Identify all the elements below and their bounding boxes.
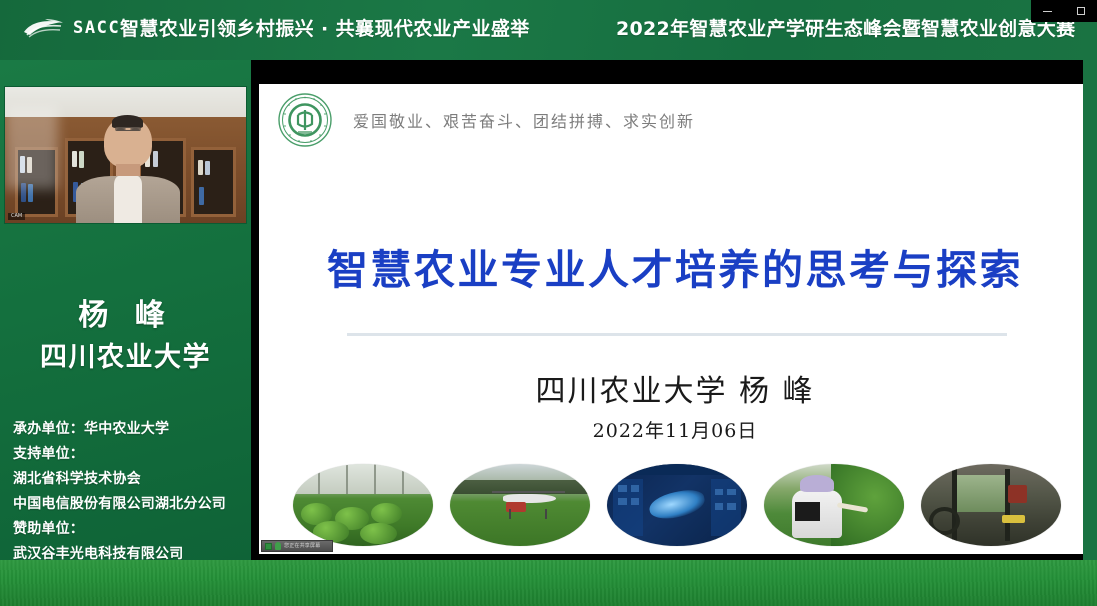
- credit-line: 承办单位：华中农业大学: [13, 417, 251, 442]
- maximize-icon: [1077, 7, 1085, 15]
- credit-line: 中国电信股份有限公司湖北分公司: [13, 492, 251, 517]
- sacc-wordmark: SACC: [73, 17, 120, 39]
- credit-line: 支持单位：: [13, 442, 251, 467]
- webcam-badge: CAM: [8, 213, 25, 220]
- speaker-webcam-tile[interactable]: CAM: [4, 86, 247, 224]
- share-status-label: 您正在共享屏幕: [284, 542, 320, 550]
- speaker-head: [104, 117, 153, 168]
- speaker-sidebar: CAM 杨 峰 四川农业大学 承办单位：华中农业大学 支持单位： 湖北省科学技术…: [0, 60, 251, 560]
- webcam-video-feed: [5, 87, 246, 223]
- eyeglasses-icon: [115, 127, 140, 132]
- maximize-button[interactable]: [1068, 0, 1094, 22]
- window-light-glare: [5, 107, 58, 189]
- slide-subtitle: 四川农业大学 杨 峰: [259, 372, 1091, 412]
- credit-line: 赞助单位：: [13, 517, 251, 542]
- credit-line: 湖北省科学技术协会: [13, 467, 251, 492]
- grass-footer-strip: [0, 560, 1097, 606]
- leaf-wave-icon: [22, 17, 64, 39]
- presentation-slide: 爱国敬业、艰苦奋斗、团结拼搏、求实创新 智慧农业专业人才培养的思考与探索 四川农…: [259, 84, 1091, 554]
- stop-share-icon[interactable]: [265, 543, 272, 550]
- shelf-panel: [191, 147, 237, 217]
- slide-header: 爱国敬业、艰苦奋斗、团结拼搏、求实创新: [277, 92, 695, 148]
- header-event-title: 2022年智慧农业产学研生态峰会暨智慧农业创意大赛: [616, 17, 1075, 41]
- sacc-brand-logo: SACC: [22, 17, 120, 39]
- speaker-shirt: [114, 176, 142, 223]
- slide-title: 智慧农业专业人才培养的思考与探索: [259, 244, 1091, 296]
- minimize-icon: [1043, 11, 1052, 12]
- credit-line: 武汉谷丰光电科技有限公司: [13, 542, 251, 560]
- minimize-button[interactable]: [1035, 0, 1061, 22]
- speaker-organization: 四川农业大学: [0, 341, 251, 375]
- photo-greenhouse-lettuce: [293, 464, 433, 546]
- shared-screen-stage[interactable]: 爱国敬业、艰苦奋斗、团结拼搏、求实创新 智慧农业专业人才培养的思考与探索 四川农…: [251, 60, 1097, 560]
- title-divider: [347, 333, 1007, 336]
- slide-motto: 爱国敬业、艰苦奋斗、团结拼搏、求实创新: [353, 108, 695, 132]
- screen-share-indicator[interactable]: 您正在共享屏幕: [261, 540, 333, 552]
- speaker-name: 杨 峰: [0, 298, 251, 334]
- right-green-edge: [1083, 60, 1097, 560]
- photo-agricultural-drone: [450, 464, 590, 546]
- header-slogan: 智慧农业引领乡村振兴 · 共襄现代农业产业盛举: [120, 18, 530, 40]
- university-seal-icon: [277, 92, 333, 148]
- sponsor-credits-list: 承办单位：华中农业大学 支持单位： 湖北省科学技术协会 中国电信股份有限公司湖北…: [13, 417, 251, 560]
- slide-date: 2022年11月06日: [259, 418, 1091, 444]
- photo-field-machinery: [921, 464, 1061, 546]
- window-controls: [1031, 0, 1097, 22]
- speaker-figure: [85, 117, 172, 223]
- slide-photo-strip: [293, 462, 1061, 548]
- microphone-icon[interactable]: [275, 542, 281, 550]
- photo-greenhouse-robot: [764, 464, 904, 546]
- conference-header-bar: SACC 智慧农业引领乡村振兴 · 共襄现代农业产业盛举 2022年智慧农业产学…: [0, 0, 1097, 60]
- photo-data-dashboard: [607, 464, 747, 546]
